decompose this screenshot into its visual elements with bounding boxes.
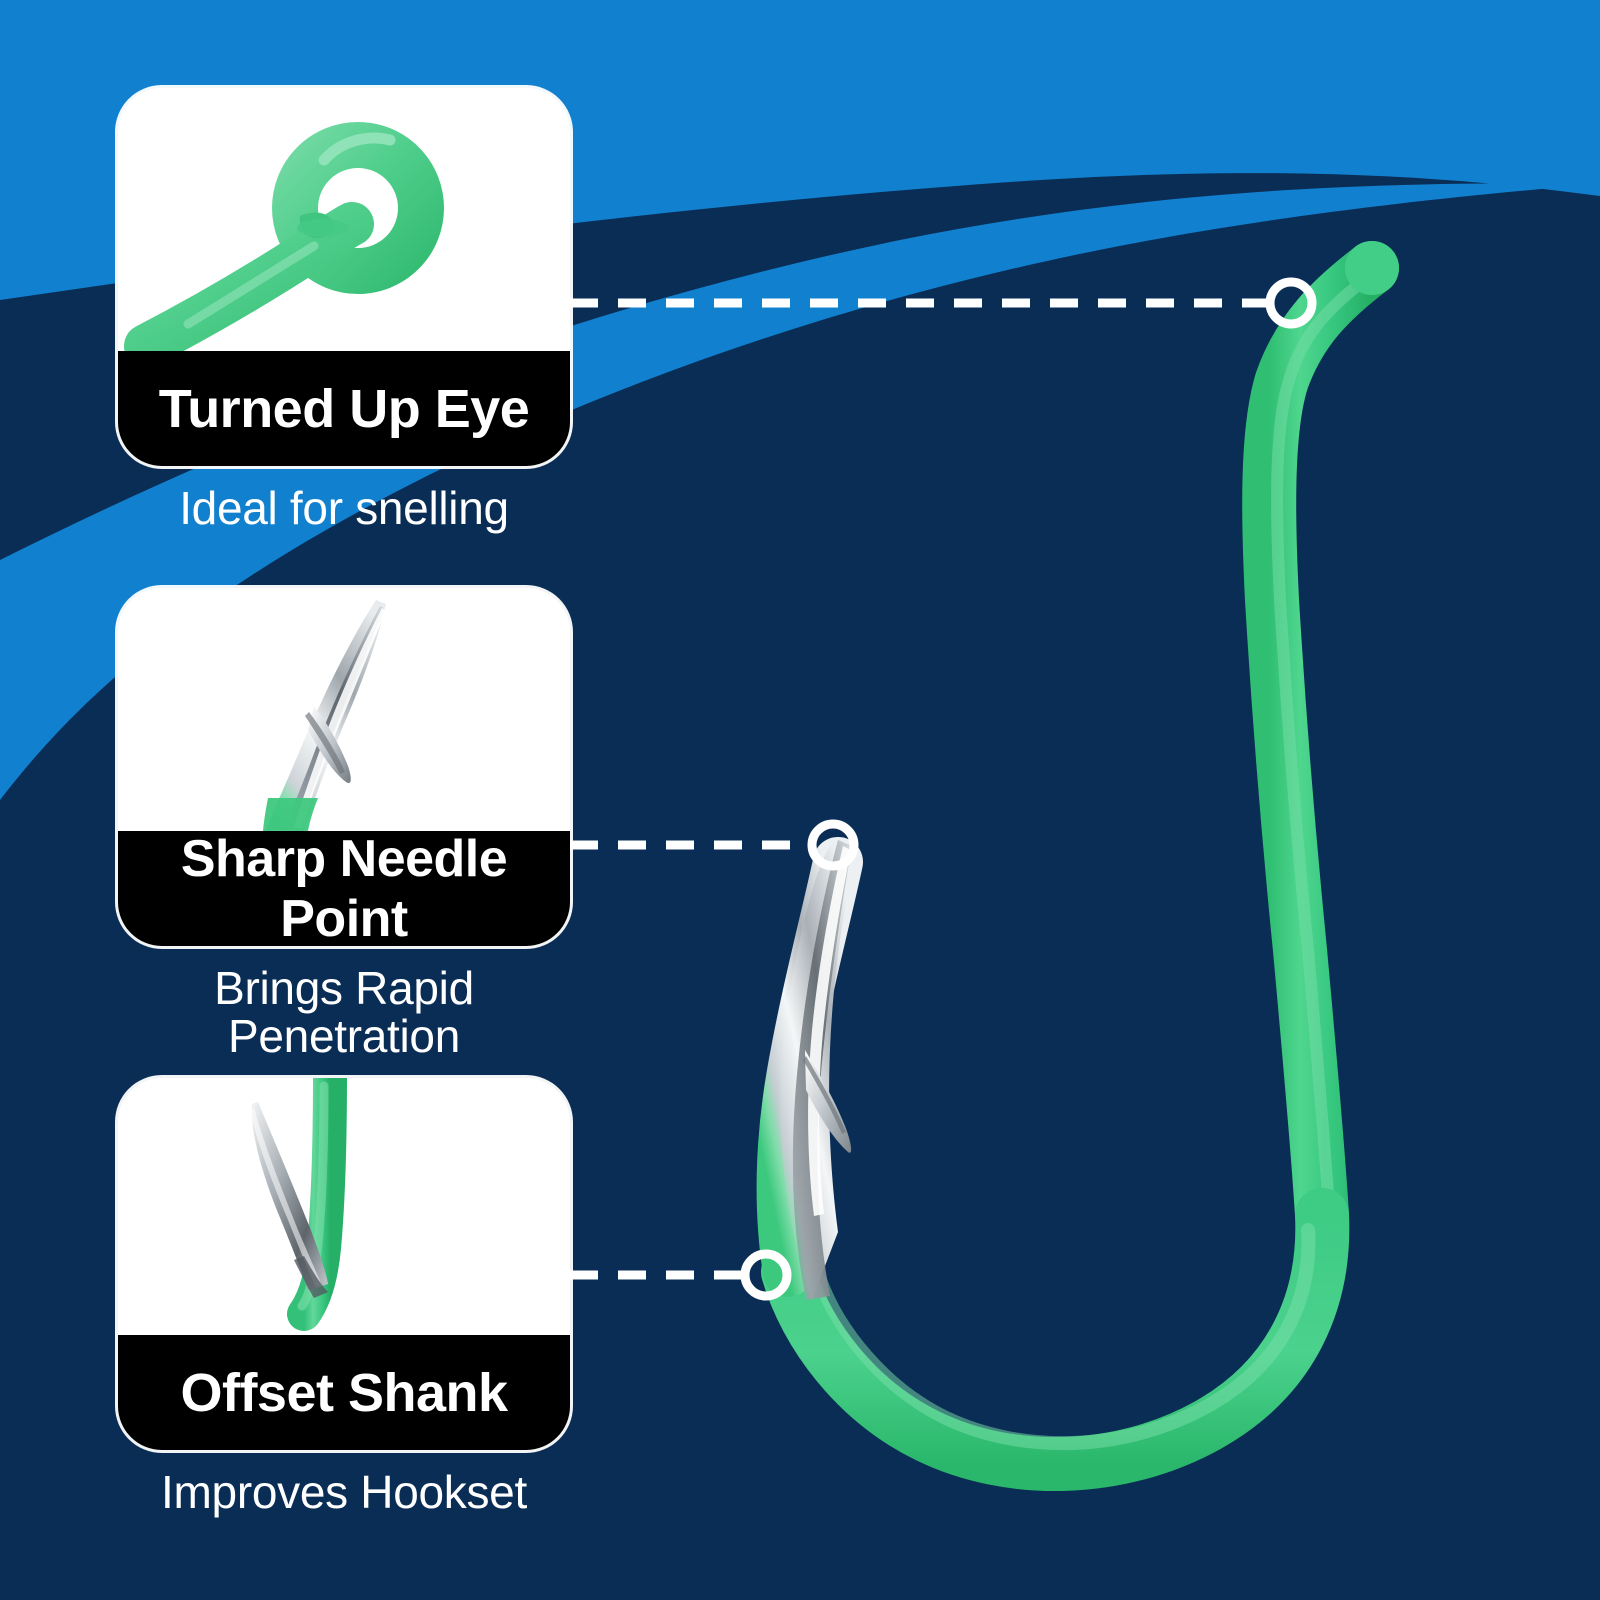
callout-title: Sharp Needle Point (118, 831, 570, 946)
circle-marker (745, 1254, 787, 1296)
hook-offset-shank-closeup-photo (118, 1078, 570, 1335)
callout-card[interactable]: Turned Up Eye (118, 88, 570, 466)
callout-offset-shank[interactable]: Offset Shank Improves Hookset (118, 1078, 570, 1516)
infographic-canvas: Turned Up Eye Ideal for snelling (0, 0, 1600, 1600)
callout-card[interactable]: Sharp Needle Point (118, 588, 570, 946)
connector-offset-shank (570, 1254, 787, 1296)
callout-card[interactable]: Offset Shank (118, 1078, 570, 1450)
callout-subtitle: Brings Rapid Penetration (118, 964, 570, 1061)
connector-sharp-needle-point (570, 824, 854, 866)
hook-point-closeup-photo (118, 588, 570, 831)
eye-wire-cut-face (297, 219, 349, 237)
callout-title: Offset Shank (118, 1335, 570, 1450)
circle-marker (812, 824, 854, 866)
callout-subtitle: Ideal for snelling (118, 484, 570, 532)
hook-eye-closeup-photo (118, 88, 570, 351)
callout-turned-up-eye[interactable]: Turned Up Eye Ideal for snelling (118, 88, 570, 532)
circle-marker (1270, 282, 1312, 324)
connector-turned-up-eye (570, 282, 1312, 324)
callout-title: Turned Up Eye (118, 351, 570, 466)
callout-sharp-needle-point[interactable]: Sharp Needle Point Brings Rapid Penetrat… (118, 588, 570, 1061)
callout-subtitle: Improves Hookset (118, 1468, 570, 1516)
